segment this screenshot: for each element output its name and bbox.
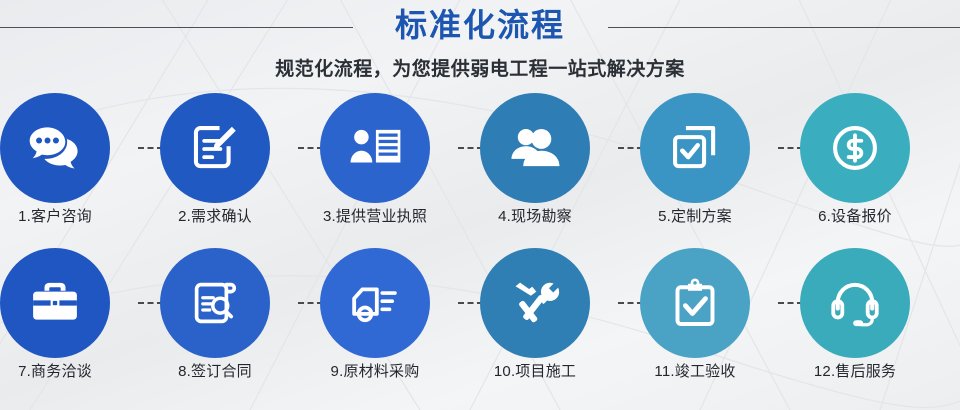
- step-label-12: 12.售后服务: [775, 361, 935, 383]
- process-step-12[interactable]: 12.售后服务: [775, 248, 935, 393]
- step-circle-5[interactable]: [640, 93, 750, 203]
- step-label-10: 10.项目施工: [455, 361, 615, 383]
- process-step-1[interactable]: 1.客户咨询: [0, 93, 135, 238]
- banner-header: 标准化流程 规范化流程，为您提供弱电工程一站式解决方案: [0, 0, 960, 95]
- process-row-second: 7.商务洽谈 8.签订合同: [0, 248, 960, 393]
- process-step-10[interactable]: 10.项目施工: [455, 248, 615, 393]
- step-circle-2[interactable]: [160, 93, 270, 203]
- step-circle-9[interactable]: [320, 248, 430, 358]
- step-label-4: 4.现场勘察: [455, 206, 615, 228]
- process-step-2[interactable]: 2.需求确认: [135, 93, 295, 238]
- process-step-9[interactable]: 9.原材料采购: [295, 248, 455, 393]
- step-circle-6[interactable]: [800, 93, 910, 203]
- clipboard-check-icon: [667, 275, 723, 331]
- delivery-truck-icon: [346, 274, 404, 332]
- page-subtitle: 规范化流程，为您提供弱电工程一站式解决方案: [0, 56, 960, 84]
- process-step-8[interactable]: 8.签订合同: [135, 248, 295, 393]
- process-step-7[interactable]: 7.商务洽谈: [0, 248, 135, 393]
- checked-copy-icon: [666, 119, 724, 177]
- step-circle-12[interactable]: [800, 248, 910, 358]
- step-label-5: 5.定制方案: [615, 206, 775, 228]
- process-row-first: 1.客户咨询 2.需求确认: [0, 93, 960, 238]
- step-label-3: 3.提供营业执照: [295, 206, 455, 228]
- step-label-9: 9.原材料采购: [295, 361, 455, 383]
- page-title: 标准化流程: [0, 3, 960, 47]
- headset-icon: [826, 274, 884, 332]
- dollar-coin-icon: [826, 119, 884, 177]
- contract-sign-icon: [187, 275, 243, 331]
- step-circle-7[interactable]: [0, 248, 110, 358]
- step-circle-8[interactable]: [160, 248, 270, 358]
- step-label-8: 8.签订合同: [135, 361, 295, 383]
- step-label-11: 11.竣工验收: [615, 361, 775, 383]
- step-circle-1[interactable]: [0, 93, 110, 203]
- hammer-wrench-icon: [506, 274, 564, 332]
- id-license-icon: [346, 119, 404, 177]
- site-survey-people-icon: [506, 119, 564, 177]
- standardized-process-banner: 标准化流程 规范化流程，为您提供弱电工程一站式解决方案 1.客户咨询: [0, 0, 960, 410]
- step-label-2: 2.需求确认: [135, 206, 295, 228]
- step-label-1: 1.客户咨询: [0, 206, 135, 228]
- process-step-11[interactable]: 11.竣工验收: [615, 248, 775, 393]
- briefcase-icon: [27, 275, 83, 331]
- step-circle-11[interactable]: [640, 248, 750, 358]
- process-step-4[interactable]: 4.现场勘察: [455, 93, 615, 238]
- document-edit-icon: [186, 119, 244, 177]
- step-label-6: 6.设备报价: [775, 206, 935, 228]
- step-label-7: 7.商务洽谈: [0, 361, 135, 383]
- process-step-5[interactable]: 5.定制方案: [615, 93, 775, 238]
- chat-bubbles-icon: [25, 118, 85, 178]
- step-circle-10[interactable]: [480, 248, 590, 358]
- step-circle-3[interactable]: [320, 93, 430, 203]
- process-step-3[interactable]: 3.提供营业执照: [295, 93, 455, 238]
- step-circle-4[interactable]: [480, 93, 590, 203]
- process-step-6[interactable]: 6.设备报价: [775, 93, 935, 238]
